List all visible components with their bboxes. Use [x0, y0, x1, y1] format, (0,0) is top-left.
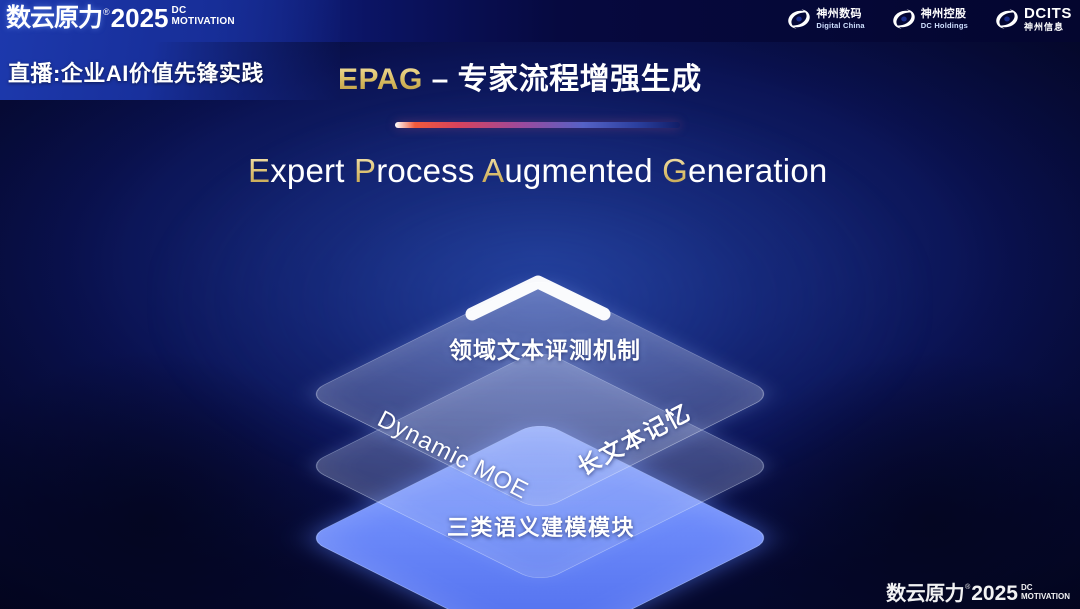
watermark-dc-text: DC	[1021, 584, 1070, 592]
page-title-chinese: 专家流程增强生成	[458, 63, 702, 96]
swirl-logo-icon	[786, 8, 812, 30]
watermark-year: 2025	[971, 583, 1018, 605]
partner-logo-dc-holdings: 神州控股 DC Holdings	[891, 8, 968, 30]
brand-dc-block: DC MOTIVATION	[172, 6, 235, 27]
partner-name-en: DC Holdings	[921, 22, 968, 30]
subtitle-initial-a: A	[482, 152, 504, 189]
subtitle-initial-e: E	[248, 152, 270, 189]
subtitle-space-1	[345, 152, 354, 189]
page-title-abbreviation: EPAG	[338, 63, 423, 96]
footer-watermark-logo: 数云原力 ® 2025 DC MOTIVATION	[886, 583, 1070, 605]
partner-name-en: Digital China	[816, 22, 864, 30]
subtitle-space-3	[653, 152, 662, 189]
gradient-divider	[395, 122, 680, 128]
partner-logo-digital-china: 神州数码 Digital China	[786, 8, 864, 30]
watermark-motivation-text: MOTIVATION	[1021, 592, 1070, 601]
partner-name-cn: 神州数码	[816, 9, 864, 20]
watermark-dc-block: DC MOTIVATION	[1021, 584, 1070, 601]
brand-motivation-text: MOTIVATION	[172, 16, 235, 27]
subtitle-initial-p: P	[354, 152, 376, 189]
layer-label-top: 领域文本评测机制	[449, 331, 641, 365]
page-title-separator: –	[423, 63, 458, 96]
page-subtitle: Expert Process Augmented Generation	[248, 152, 827, 190]
brand-year: 2025	[111, 4, 169, 32]
layer-label-bottom: 三类语义建模模块	[447, 510, 635, 542]
partner-name-cn: 神州信息	[1024, 23, 1072, 32]
subtitle-word-generation: eneration	[688, 152, 827, 189]
subtitle-initial-g: G	[662, 152, 688, 189]
swirl-logo-icon	[994, 8, 1020, 30]
live-subtitle: 直播:企业AI价值先锋实践	[8, 56, 264, 88]
subtitle-word-process: rocess	[376, 152, 474, 189]
partner-name-en: DCITS	[1024, 6, 1072, 21]
subtitle-word-augmented: ugmented	[504, 152, 652, 189]
slide-canvas: 数云原力 ® 2025 DC MOTIVATION 直播:企业AI价值先锋实践 …	[0, 0, 1080, 609]
watermark-registered-mark: ®	[965, 583, 970, 593]
swirl-logo-icon	[891, 8, 917, 30]
brand-registered-mark: ®	[103, 6, 110, 18]
chevron-up-icon	[462, 272, 614, 324]
page-title: EPAG – 专家流程增强生成	[338, 54, 702, 98]
brand-name-cn: 数云原力	[6, 4, 102, 32]
subtitle-word-expert: xpert	[270, 152, 344, 189]
brand-logo: 数云原力 ® 2025 DC MOTIVATION	[6, 4, 235, 32]
partner-text-block: 神州数码 Digital China	[816, 9, 864, 30]
partner-name-cn: 神州控股	[921, 9, 968, 20]
partner-text-block: DCITS 神州信息	[1024, 6, 1072, 32]
brand-dc-text: DC	[172, 6, 235, 16]
watermark-name-cn: 数云原力	[886, 583, 964, 605]
partner-logo-dcits: DCITS 神州信息	[994, 6, 1072, 32]
partner-logo-group: 神州数码 Digital China 神州控股 DC Holdings	[786, 6, 1072, 32]
partner-text-block: 神州控股 DC Holdings	[921, 9, 968, 30]
